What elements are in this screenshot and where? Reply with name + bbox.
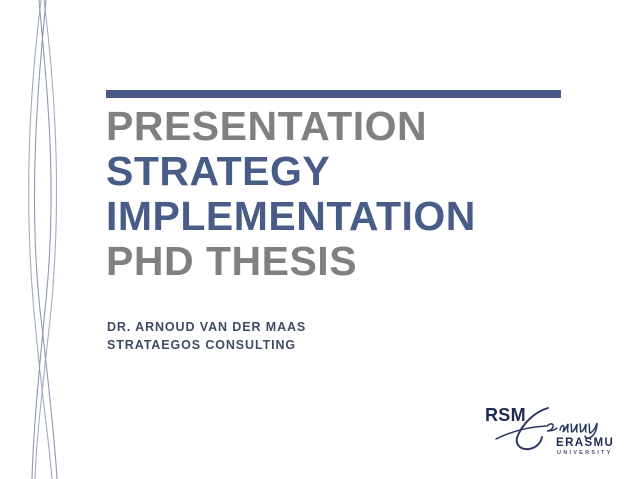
- title-line-2: STRATEGY: [106, 149, 606, 194]
- title-accent-rule: [106, 90, 561, 98]
- title-line-1: PRESENTATION: [106, 104, 606, 149]
- rsm-erasmus-logo: RSM ERASMUS UNIVERSITY: [484, 402, 614, 460]
- presenter-info: DR. ARNOUD VAN DER MAAS STRATAEGOS CONSU…: [107, 318, 306, 354]
- presentation-title-slide: PRESENTATION STRATEGY IMPLEMENTATION PHD…: [0, 0, 638, 479]
- svg-text:ERASMUS: ERASMUS: [556, 437, 614, 449]
- title-line-3: IMPLEMENTATION: [106, 194, 606, 239]
- presenter-name: DR. ARNOUD VAN DER MAAS: [107, 318, 306, 336]
- title-line-4: PHD THESIS: [106, 239, 606, 284]
- decorative-ribbon-lines: [0, 0, 110, 479]
- svg-text:UNIVERSITY: UNIVERSITY: [557, 450, 613, 456]
- svg-text:RSM: RSM: [485, 405, 526, 425]
- page-title: PRESENTATION STRATEGY IMPLEMENTATION PHD…: [106, 104, 606, 284]
- presenter-organisation: STRATAEGOS CONSULTING: [107, 336, 306, 354]
